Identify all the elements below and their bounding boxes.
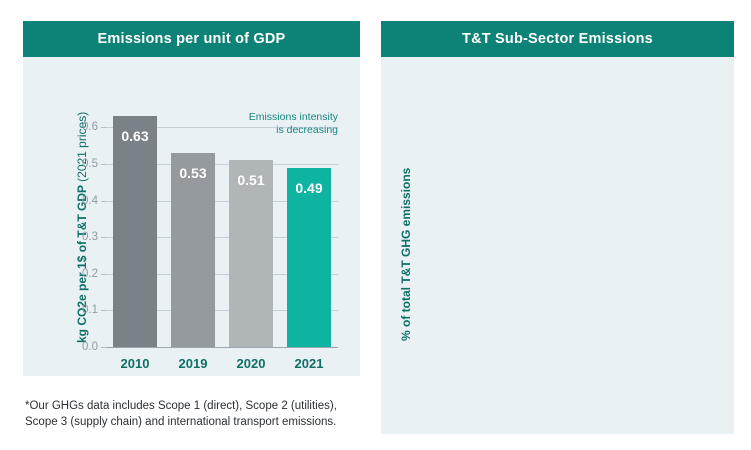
left-chart-y-tick-label: 0.3: [82, 231, 98, 243]
left-chart-y-tick-label: 0.2: [82, 268, 98, 280]
left-chart-baseline: [106, 347, 338, 348]
left-chart-annotation-line1: Emissions intensity: [249, 111, 338, 124]
left-chart-y-tick-mark: [101, 201, 106, 202]
right-chart-y-axis-label: % of total T&T GHG emissions: [399, 168, 413, 341]
footnote-text: *Our GHGs data includes Scope 1 (direct)…: [25, 398, 370, 430]
infographic-root: Emissions per unit of GDP kg CO2e per 1$…: [0, 0, 751, 449]
left-chart-x-label-2019: 2019: [164, 356, 222, 371]
left-chart-bar-2019[interactable]: 0.53: [171, 153, 215, 347]
left-chart-bar-2020[interactable]: 0.51: [229, 160, 273, 347]
left-chart-plot-area: 0.00.10.20.30.40.50.60.6320100.5320190.5…: [106, 109, 338, 347]
left-chart-bar-value-label: 0.63: [113, 128, 157, 144]
emissions-per-gdp-card: Emissions per unit of GDP kg CO2e per 1$…: [23, 21, 360, 376]
left-chart-y-tick-mark: [101, 310, 106, 311]
left-chart-y-tick-mark: [101, 164, 106, 165]
left-chart-y-tick-mark: [101, 237, 106, 238]
left-chart-x-label-2010: 2010: [106, 356, 164, 371]
left-card-header: Emissions per unit of GDP: [23, 21, 360, 57]
left-chart-bar-2021[interactable]: 0.49: [287, 168, 331, 347]
left-chart-bar-2010[interactable]: 0.63: [113, 116, 157, 347]
left-chart-y-tick-mark: [101, 274, 106, 275]
left-chart-x-label-2021: 2021: [280, 356, 338, 371]
left-chart-annotation: Emissions intensityis decreasing: [249, 111, 338, 137]
left-chart-y-tick-label: 0.6: [82, 121, 98, 133]
left-chart-x-label-2020: 2020: [222, 356, 280, 371]
left-chart-y-tick-label: 0.0: [82, 341, 98, 353]
left-chart-y-tick-label: 0.4: [82, 195, 98, 207]
left-chart-y-tick-mark: [101, 347, 106, 348]
left-chart-bar-value-label: 0.51: [229, 172, 273, 188]
right-card-title: T&T Sub-Sector Emissions: [462, 31, 653, 47]
left-chart-bar-value-label: 0.53: [171, 165, 215, 181]
left-card-title: Emissions per unit of GDP: [98, 31, 286, 47]
left-chart-y-tick-label: 0.1: [82, 304, 98, 316]
right-card-header: T&T Sub-Sector Emissions: [381, 21, 734, 57]
left-chart-y-tick-label: 0.5: [82, 158, 98, 170]
subsector-emissions-card: T&T Sub-Sector Emissions % of total T&T …: [381, 21, 734, 434]
left-chart-annotation-line2: is decreasing: [249, 124, 338, 137]
left-chart-bar-value-label: 0.49: [287, 180, 331, 196]
left-chart-y-tick-mark: [101, 127, 106, 128]
